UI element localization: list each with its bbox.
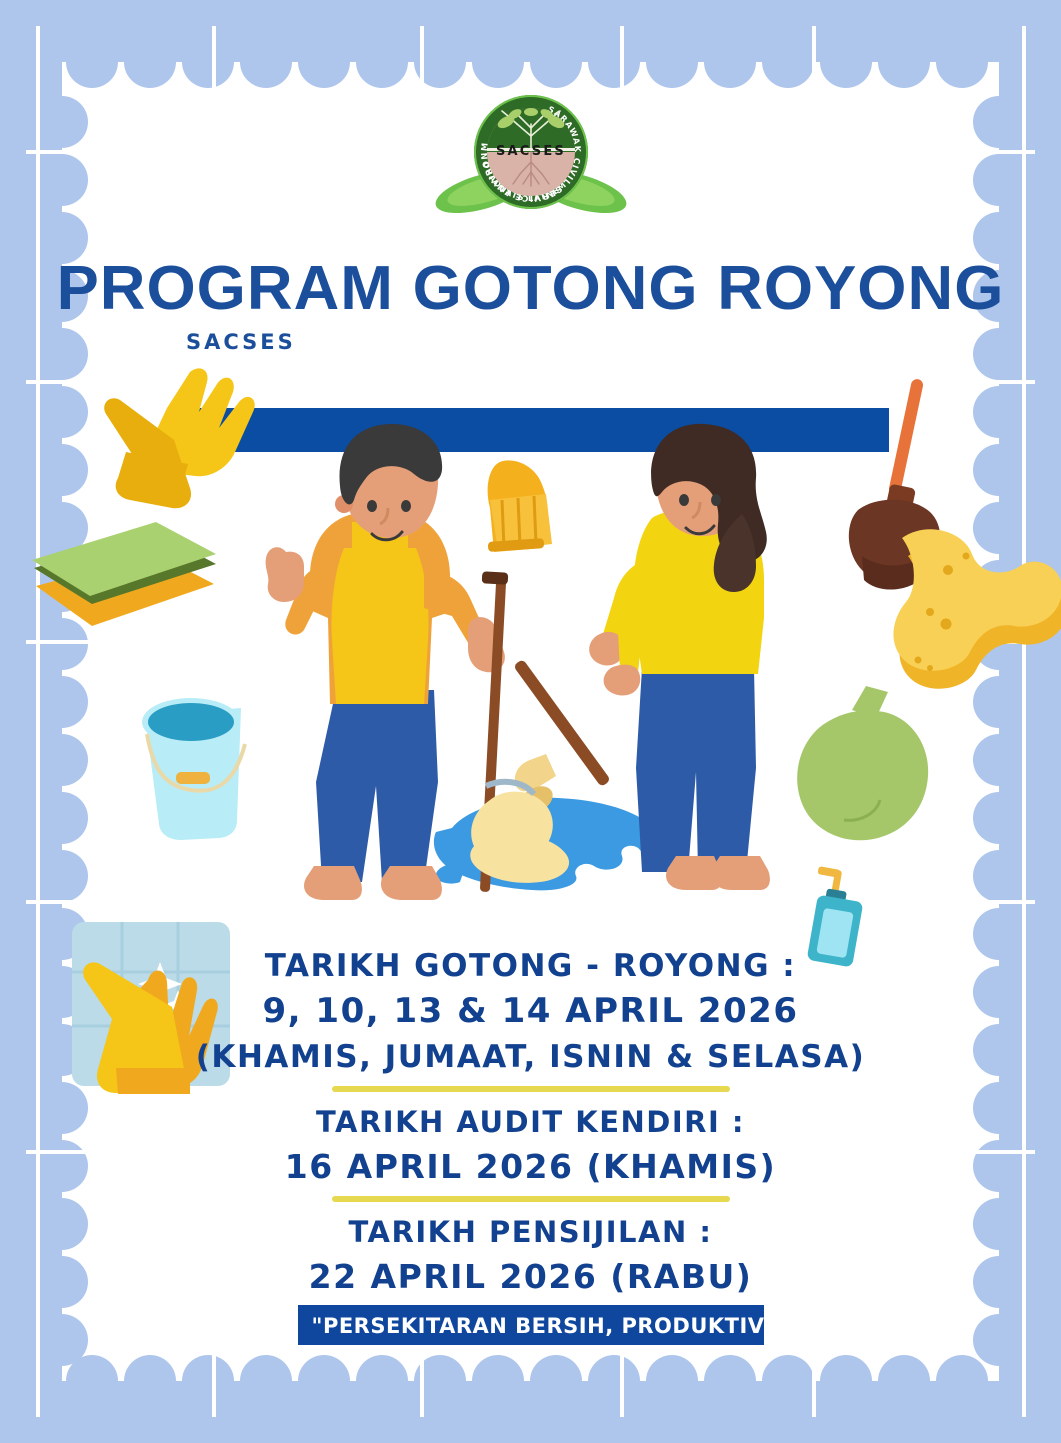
svg-text:SACSES: SACSES — [495, 144, 565, 159]
divider-rule-2 — [332, 1196, 730, 1202]
audit-label: TARIKH AUDIT KENDIRI : — [0, 1100, 1061, 1144]
pensijilan-label: TARIKH PENSIJILAN : — [0, 1210, 1061, 1254]
poster: SARAWAK CIVIL SERVICE ENVIRONM DRADNATS … — [0, 0, 1061, 1443]
audit-date: 16 APRIL 2026 (KHAMIS) — [0, 1144, 1061, 1190]
sacses-logo: SARAWAK CIVIL SERVICE ENVIRONM DRADNATS … — [420, 92, 642, 220]
poster-subtitle: SACSES — [186, 330, 296, 354]
divider-rule-1 — [332, 1086, 730, 1092]
gotong-date: 9, 10, 13 & 14 APRIL 2026 — [0, 988, 1061, 1034]
title-blue-bar — [176, 408, 889, 452]
gotong-days: (KHAMIS, JUMAAT, ISNIN & SELASA) — [0, 1034, 1061, 1080]
gotong-label: TARIKH GOTONG - ROYONG : — [0, 944, 1061, 988]
tagline-text: "PERSEKITARAN BERSIH, PRODUKTIVITI MENIN… — [298, 1305, 764, 1338]
date-block: TARIKH GOTONG - ROYONG : 9, 10, 13 & 14 … — [0, 944, 1061, 1300]
pensijilan-date: 22 APRIL 2026 (RABU) — [0, 1254, 1061, 1300]
tagline-banner: "PERSEKITARAN BERSIH, PRODUKTIVITI MENIN… — [298, 1305, 764, 1345]
page-title: PROGRAM GOTONG ROYONG — [0, 253, 1061, 324]
